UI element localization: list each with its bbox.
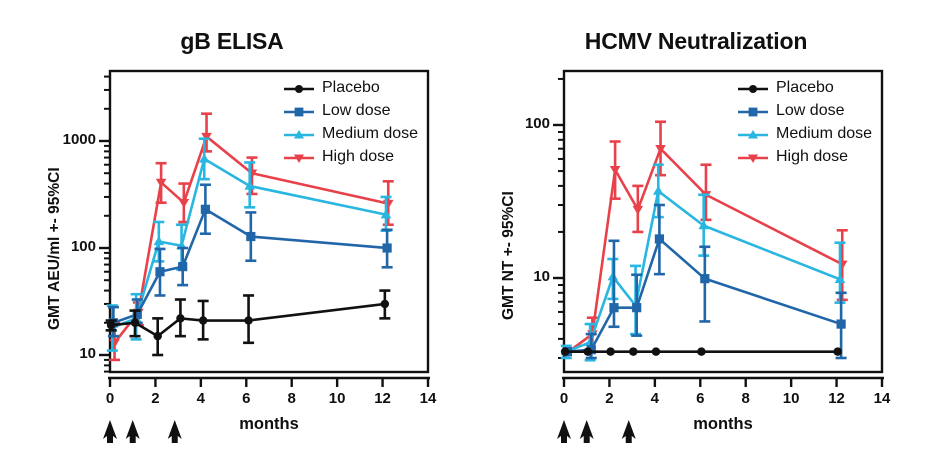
data-point-marker xyxy=(383,243,392,252)
x-axis-label: months xyxy=(224,415,314,434)
data-point-marker xyxy=(653,186,664,195)
y-axis-ticks xyxy=(553,79,564,358)
data-series-placebo xyxy=(561,347,842,355)
data-point-marker xyxy=(201,205,210,214)
data-point-marker xyxy=(609,303,618,312)
chart-panel-gb-elisa: gB ELISA 10100100002468101214monthsGMT A… xyxy=(0,0,464,464)
dose-arrow-icon xyxy=(168,420,182,443)
legend-label: Medium dose xyxy=(776,125,872,143)
data-point-marker xyxy=(606,347,614,355)
legend-label: Placebo xyxy=(776,79,834,97)
legend-item-low-dose[interactable] xyxy=(284,108,314,117)
y-axis-label: GMT AEU/ml +- 95%CI xyxy=(46,167,64,330)
dose-arrow-icon xyxy=(580,420,594,443)
x-axis-tick-label: 12 xyxy=(363,390,403,407)
y-axis-label: GMT NT +- 95%CI xyxy=(500,191,518,320)
dose-arrow-icon xyxy=(557,420,571,443)
x-axis-tick-label: 0 xyxy=(90,390,130,407)
legend-item-high-dose[interactable] xyxy=(738,154,768,163)
data-point-marker xyxy=(107,321,115,329)
dose-arrow-icon xyxy=(103,420,117,443)
data-point-marker xyxy=(652,347,660,355)
legend-label: High dose xyxy=(776,148,848,166)
legend-item-medium-dose[interactable] xyxy=(284,130,314,139)
figure-container: gB ELISA 10100100002468101214monthsGMT A… xyxy=(0,0,928,464)
data-point-marker xyxy=(244,316,252,324)
x-axis xyxy=(108,378,430,387)
data-point-marker xyxy=(246,232,255,241)
x-axis-tick-label: 4 xyxy=(635,390,675,407)
dose-arrow-group xyxy=(103,420,182,443)
data-point-marker xyxy=(561,347,569,355)
x-axis-tick-label: 10 xyxy=(317,390,357,407)
data-point-marker xyxy=(179,199,190,208)
x-axis-tick-label: 8 xyxy=(726,390,766,407)
data-point-marker xyxy=(629,347,637,355)
data-point-marker xyxy=(749,108,758,117)
data-point-marker xyxy=(697,347,705,355)
legend xyxy=(738,85,768,163)
dose-arrow-icon xyxy=(126,420,140,443)
data-point-marker xyxy=(199,316,207,324)
data-point-marker xyxy=(154,236,165,245)
legend-label: Low dose xyxy=(776,102,845,120)
data-point-marker xyxy=(295,108,304,117)
y-axis-tick-label: 10 xyxy=(26,345,96,362)
data-point-marker xyxy=(155,267,164,276)
y-axis-tick-label: 1000 xyxy=(26,131,96,148)
data-point-marker xyxy=(178,262,187,271)
dose-arrow-icon xyxy=(622,420,636,443)
chart-panel-hcmv-neutralization: HCMV Neutralization 1010002468101214mont… xyxy=(464,0,928,464)
x-axis-tick-label: 2 xyxy=(589,390,629,407)
data-point-marker xyxy=(381,300,389,308)
legend-label: Placebo xyxy=(322,79,380,97)
error-bar xyxy=(699,247,710,322)
data-point-marker xyxy=(295,85,303,93)
data-point-marker xyxy=(700,274,709,283)
legend-item-medium-dose[interactable] xyxy=(738,130,768,139)
data-point-marker xyxy=(633,206,644,215)
data-point-marker xyxy=(655,234,664,243)
legend xyxy=(284,85,314,163)
data-point-marker xyxy=(584,347,592,355)
legend-item-placebo[interactable] xyxy=(284,85,314,93)
data-point-marker xyxy=(837,261,848,270)
x-axis-tick-label: 6 xyxy=(226,390,266,407)
data-point-marker xyxy=(749,85,757,93)
data-point-marker xyxy=(153,332,161,340)
x-axis-tick-label: 6 xyxy=(680,390,720,407)
x-axis-tick-label: 4 xyxy=(181,390,221,407)
x-axis-tick-label: 8 xyxy=(272,390,312,407)
x-axis-tick-label: 10 xyxy=(771,390,811,407)
legend-item-high-dose[interactable] xyxy=(284,154,314,163)
data-point-marker xyxy=(837,319,846,328)
x-axis-tick-label: 12 xyxy=(817,390,857,407)
x-axis xyxy=(562,378,884,387)
legend-label: Low dose xyxy=(322,102,391,120)
data-point-marker xyxy=(176,314,184,322)
dose-arrow-group xyxy=(557,420,636,443)
x-axis-tick-label: 2 xyxy=(135,390,175,407)
legend-label: High dose xyxy=(322,148,394,166)
x-axis-tick-label: 14 xyxy=(862,390,902,407)
data-point-marker xyxy=(383,200,394,209)
y-axis-tick-label: 100 xyxy=(480,115,550,132)
x-axis-label: months xyxy=(678,415,768,434)
legend-item-low-dose[interactable] xyxy=(738,108,768,117)
legend-item-placebo[interactable] xyxy=(738,85,768,93)
x-axis-tick-label: 14 xyxy=(408,390,448,407)
data-point-marker xyxy=(833,347,841,355)
legend-label: Medium dose xyxy=(322,125,418,143)
x-axis-tick-label: 0 xyxy=(544,390,584,407)
data-point-marker xyxy=(632,303,641,312)
data-series-placebo xyxy=(106,291,391,355)
data-point-marker xyxy=(131,319,139,327)
